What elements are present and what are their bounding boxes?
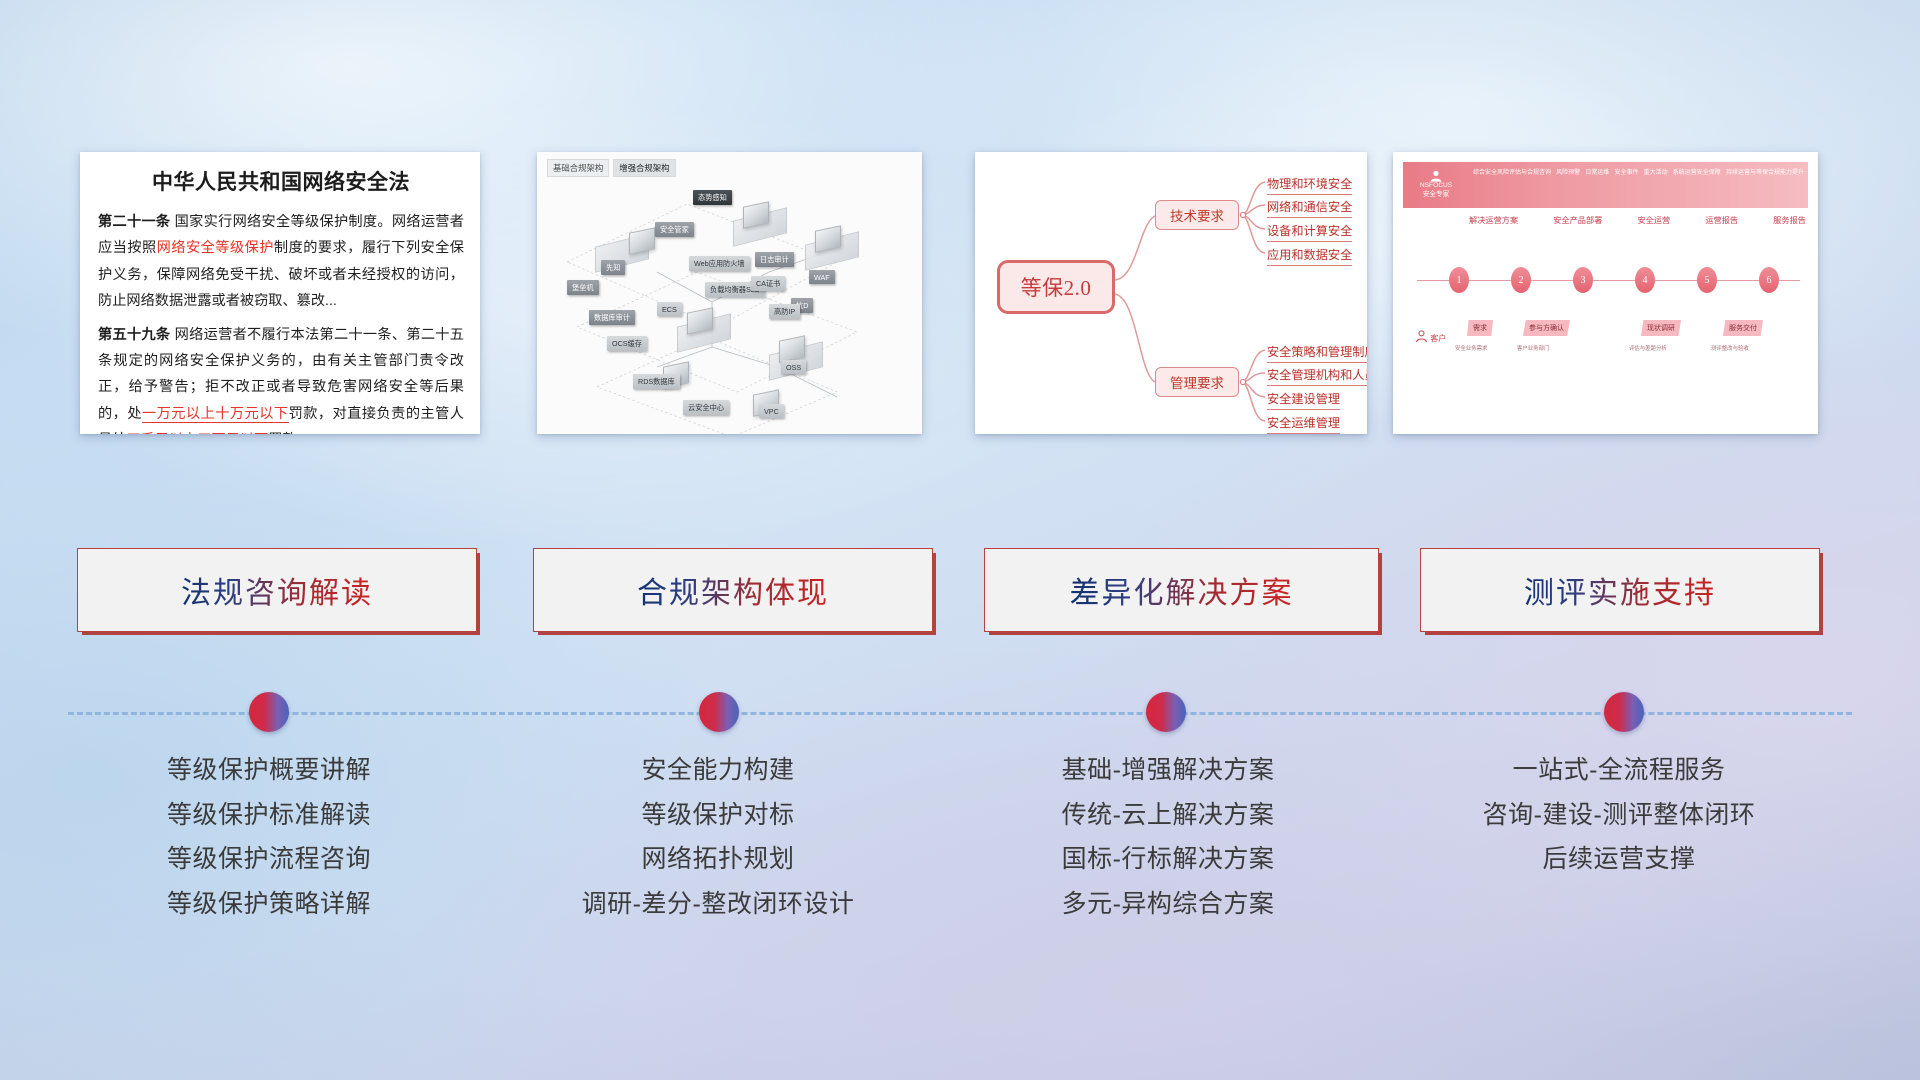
arch-node: RDS数据库 [633, 374, 680, 389]
timeline-dot-4[interactable] [1604, 692, 1644, 732]
mindmap-leaf: 安全建设管理 [1267, 389, 1340, 410]
nsfocus-sub: 客户业务部门 [1517, 344, 1549, 352]
card-cybersecurity-law[interactable]: 中华人民共和国网络安全法 第二十一条 国家实行网络安全等级保护制度。网络运营者应… [80, 152, 480, 434]
mindmap-root-node: 等保2.0 [997, 260, 1115, 314]
band-item: 风险预警 [1556, 167, 1580, 176]
customer-person-icon [1415, 330, 1428, 343]
nsfocus-logo: NSFOCUS 安全专家 [1407, 166, 1465, 204]
nsfocus-logo-line2: 安全专家 [1423, 191, 1449, 200]
list-item: 传统-云上解决方案 [978, 793, 1358, 838]
law-title: 中华人民共和国网络安全法 [98, 166, 464, 196]
nsfocus-step: 2 [1511, 267, 1531, 293]
detail-list-solution: 基础-增强解决方案 传统-云上解决方案 国标-行标解决方案 多元-异构综合方案 [978, 748, 1358, 926]
list-item: 等级保护对标 [528, 793, 908, 838]
nsfocus-phase-labels: 解决运营方案 安全产品部署 安全运营 运营报告 服务报告 [1469, 214, 1806, 226]
law-article-59: 第五十九条 网络运营者不履行本法第二十一条、第二十五条规定的网络安全保护义务的，… [98, 322, 464, 434]
article-21-highlight: 网络安全等级保护 [157, 240, 274, 256]
phase-label: 安全产品部署 [1553, 214, 1602, 226]
list-item: 等级保护流程咨询 [79, 837, 459, 882]
arch-node: OSS [781, 360, 806, 374]
article-59-label: 第五十九条 [98, 327, 170, 343]
detail-lists-row: 等级保护概要讲解 等级保护标准解读 等级保护流程咨询 等级保护策略详解 安全能力… [0, 748, 1920, 1008]
list-item: 调研-差分-整改闭环设计 [528, 882, 908, 927]
arch-node: 高防IP [769, 304, 800, 319]
nsfocus-tag: 服务交付 [1723, 320, 1763, 336]
band-item: 综合安全风险评估与合规咨询 [1473, 167, 1551, 176]
tag-button-differentiated-solution[interactable]: 差异化解决方案 [984, 548, 1379, 632]
arch-node: 数据库审计 [589, 310, 635, 325]
list-item: 一站式-全流程服务 [1413, 748, 1825, 793]
law-body: 中华人民共和国网络安全法 第二十一条 国家实行网络安全等级保护制度。网络运营者应… [80, 152, 480, 434]
arch-node: 日志审计 [755, 252, 794, 267]
arch-node: 先知 [601, 260, 625, 275]
timeline [0, 692, 1920, 736]
nsfocus-diagram: NSFOCUS 安全专家 综合安全风险评估与合规咨询 风险预警 日常运维 安全事… [1393, 152, 1818, 434]
article-59-penalty-1: 一万元以上十万元以下 [142, 406, 289, 423]
list-item: 基础-增强解决方案 [978, 748, 1358, 793]
nsfocus-step: 3 [1573, 267, 1593, 293]
nsfocus-tag: 现状调研 [1641, 320, 1681, 336]
nsfocus-band-items: 综合安全风险评估与合规咨询 风险预警 日常运维 安全事件 重大活动 系统运营安全… [1473, 167, 1804, 176]
expert-person-icon [1429, 170, 1443, 182]
tag-button-regulation-consulting[interactable]: 法规咨询解读 [77, 548, 477, 632]
phase-label: 安全运营 [1637, 214, 1670, 226]
nsfocus-tag: 参与方确认 [1523, 320, 1570, 336]
nsfocus-sub: 测评整改与验收 [1711, 344, 1749, 352]
mindmap-leaf: 安全策略和管理制度 [1267, 342, 1367, 363]
detail-list-regulation: 等级保护概要讲解 等级保护标准解读 等级保护流程咨询 等级保护策略详解 [79, 748, 459, 926]
band-item: 持续运营与等保合规能力提升 [1726, 167, 1804, 176]
tag-label: 合规架构体现 [637, 568, 829, 612]
tag-label: 测评实施支持 [1524, 568, 1716, 612]
list-item: 安全能力构建 [528, 748, 908, 793]
arch-node: OCS缓存 [607, 336, 647, 351]
list-item: 国标-行标解决方案 [978, 837, 1358, 882]
tag-label: 法规咨询解读 [181, 568, 373, 612]
phase-label: 解决运营方案 [1469, 214, 1518, 226]
nsfocus-step: 5 [1697, 267, 1717, 293]
timeline-dashed-line [68, 712, 1852, 715]
mindmap-leaf: 应用和数据安全 [1267, 245, 1352, 266]
nsfocus-sub: 安全业务需求 [1455, 344, 1487, 352]
mindmap-leaf: 网络和通信安全 [1267, 197, 1352, 218]
article-21-label: 第二十一条 [98, 214, 170, 230]
nsfocus-sub: 评估与差距分析 [1629, 344, 1667, 352]
tag-buttons-row: 法规咨询解读 合规架构体现 差异化解决方案 测评实施支持 [0, 548, 1920, 640]
band-item: 日常运维 [1585, 167, 1609, 176]
tag-label: 差异化解决方案 [1070, 568, 1294, 612]
arch-node: ECS [657, 302, 682, 316]
list-item: 咨询-建设-测评整体闭环 [1413, 793, 1825, 838]
mindmap-leaf: 安全管理机构和人员 [1267, 365, 1367, 386]
customer-text: 客户 [1430, 334, 1446, 343]
band-item: 重大活动 [1644, 167, 1668, 176]
band-item: 系统运营安全保障 [1673, 167, 1721, 176]
mindmap-leaf: 安全运维管理 [1267, 413, 1340, 434]
list-item: 等级保护策略详解 [79, 882, 459, 927]
nsfocus-logo-line1: NSFOCUS [1420, 182, 1452, 191]
arch-node: 堡垒机 [567, 280, 599, 295]
nsfocus-step: 4 [1635, 267, 1655, 293]
architecture-diagram: 基础合规架构 增强合规架构 [537, 152, 922, 434]
detail-list-architecture: 安全能力构建 等级保护对标 网络拓扑规划 调研-差分-整改闭环设计 [528, 748, 908, 926]
arch-node: 云安全中心 [683, 400, 729, 415]
nsfocus-step: 6 [1759, 267, 1779, 293]
arch-node: 安全管家 [655, 222, 694, 237]
nsfocus-customer-label: 客户 [1415, 330, 1446, 344]
arch-node: CA证书 [751, 276, 785, 291]
timeline-dot-1[interactable] [249, 692, 289, 732]
tag-button-compliance-architecture[interactable]: 合规架构体现 [533, 548, 933, 632]
law-article-21: 第二十一条 国家实行网络安全等级保护制度。网络运营者应当按照网络安全等级保护制度… [98, 209, 464, 315]
mindmap-branch-technical: 技术要求 [1155, 200, 1239, 230]
nsfocus-tag: 需求 [1467, 320, 1493, 336]
list-item: 等级保护标准解读 [79, 793, 459, 838]
list-item: 后续运营支撑 [1413, 837, 1825, 882]
mindmap-leaf: 设备和计算安全 [1267, 221, 1352, 242]
timeline-dot-2[interactable] [699, 692, 739, 732]
nsfocus-timeline-line [1417, 280, 1800, 281]
mindmap: 等保2.0 技术要求 物理和环境安全 网络和通信安全 设备和计算安全 应用和数据… [975, 152, 1367, 434]
tag-button-evaluation-support[interactable]: 测评实施支持 [1420, 548, 1820, 632]
cards-row: 中华人民共和国网络安全法 第二十一条 国家实行网络安全等级保护制度。网络运营者应… [0, 152, 1920, 442]
mindmap-branch-management: 管理要求 [1155, 367, 1239, 397]
arch-node: VPC [759, 404, 784, 418]
list-item: 等级保护概要讲解 [79, 748, 459, 793]
article-59-penalty-2: 五千元以上五万元以下 [126, 432, 268, 434]
card-mindmap-dengbao[interactable]: 等保2.0 技术要求 物理和环境安全 网络和通信安全 设备和计算安全 应用和数据… [975, 152, 1367, 434]
timeline-dot-3[interactable] [1146, 692, 1186, 732]
arch-node: WAF [809, 270, 835, 284]
list-item: 多元-异构综合方案 [978, 882, 1358, 927]
nsfocus-step: 1 [1449, 267, 1469, 293]
phase-label: 运营报告 [1705, 214, 1738, 226]
detail-list-evaluation: 一站式-全流程服务 咨询-建设-测评整体闭环 后续运营支撑 [1413, 748, 1825, 882]
band-item: 安全事件 [1614, 167, 1638, 176]
card-nsfocus-service-flow[interactable]: NSFOCUS 安全专家 综合安全风险评估与合规咨询 风险预警 日常运维 安全事… [1393, 152, 1818, 434]
phase-label: 服务报告 [1773, 214, 1806, 226]
article-59-text-part3: 罚款。 [268, 432, 311, 434]
mindmap-leaf: 物理和环境安全 [1267, 174, 1352, 195]
arch-node: 态势感知 [693, 190, 732, 205]
list-item: 网络拓扑规划 [528, 837, 908, 882]
arch-node: Web应用防火墙 [689, 256, 750, 271]
card-compliance-architecture[interactable]: 基础合规架构 增强合规架构 [537, 152, 922, 434]
